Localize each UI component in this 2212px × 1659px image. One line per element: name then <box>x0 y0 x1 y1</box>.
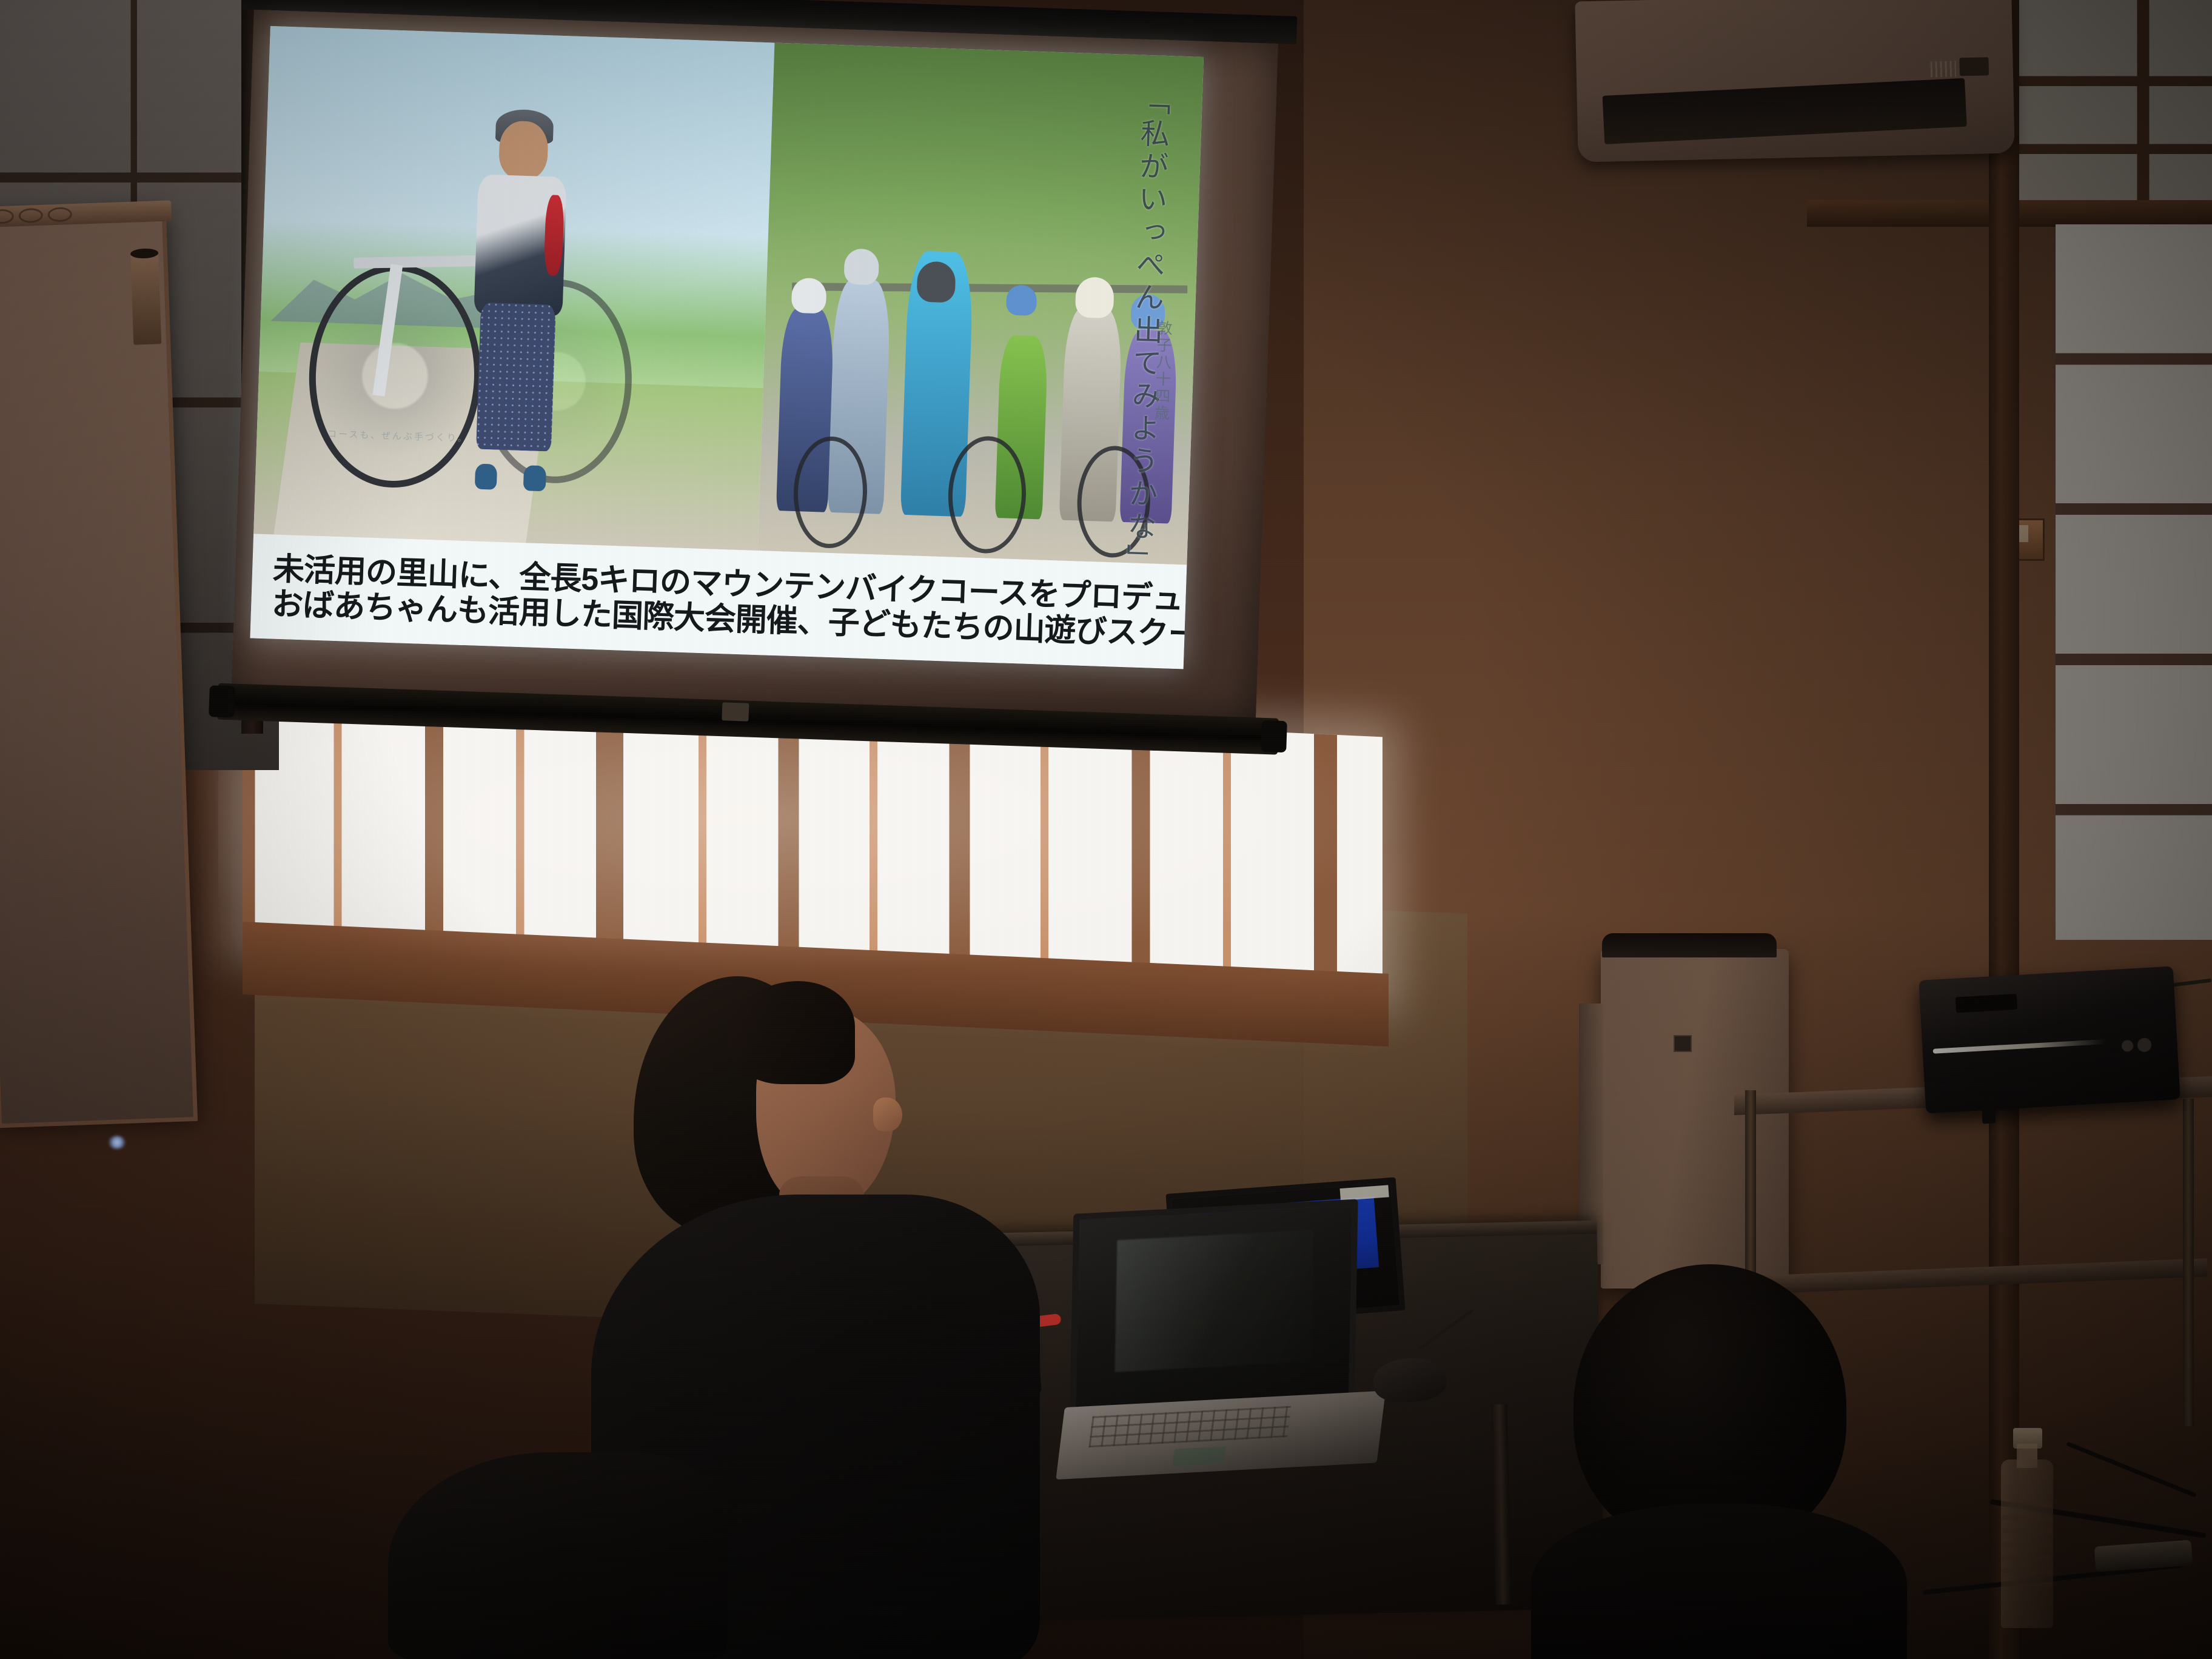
helmet-1 <box>843 249 879 286</box>
air-conditioner-vent <box>1603 78 1967 144</box>
helmet-3 <box>791 277 827 314</box>
laptop-screen <box>1070 1199 1358 1414</box>
speaker-nose <box>873 1098 902 1131</box>
slide-photo-left: コースも、ぜんぶ手づくり。 <box>253 26 774 551</box>
whiteboard-clip[interactable] <box>130 253 161 345</box>
photo-scene: コースも、ぜんぶ手づくり。 <box>0 0 2212 1659</box>
table-leg-right <box>1491 1404 1511 1604</box>
projector-focus-knobs[interactable] <box>2116 1031 2160 1059</box>
helmet-5 <box>1074 276 1114 318</box>
slide-vertical-credit: 敦子八十四歳 <box>1149 320 1175 422</box>
audience-shoulders <box>1531 1504 1907 1659</box>
shelf-leg-right <box>2183 1099 2194 1426</box>
air-conditioner <box>1575 0 2014 163</box>
laptop-trackpad[interactable] <box>1172 1446 1225 1466</box>
laptop-keyboard[interactable] <box>1088 1406 1292 1448</box>
air-purifier-top-panel <box>1602 933 1777 957</box>
bottle-label <box>2002 1496 2052 1587</box>
silver-laptop[interactable] <box>1048 1198 1383 1481</box>
air-conditioner-display <box>1960 57 1989 76</box>
black-bag <box>388 1452 728 1659</box>
screen-pull-knob[interactable] <box>722 702 749 721</box>
air-conditioner-indicator-lights <box>1931 61 1957 78</box>
shoji-sliding-door-right[interactable] <box>2056 224 2212 940</box>
projector-foot <box>1982 1105 1996 1124</box>
cyclist-shoe-right <box>523 465 546 491</box>
projected-slide: コースも、ぜんぶ手づくり。 <box>250 26 1204 669</box>
blue-led-indicator-icon <box>108 1136 126 1149</box>
cyclist-patterned-pants <box>476 303 556 451</box>
ranma-transom-panel <box>2013 0 2212 200</box>
video-projector[interactable] <box>1919 966 2180 1113</box>
projector-vent <box>1956 994 2017 1013</box>
cyclist-head <box>498 120 549 180</box>
plastic-water-bottle[interactable] <box>2001 1428 2053 1628</box>
audience-person <box>1549 1264 1889 1659</box>
projector-lens-highlight <box>1932 1039 2106 1054</box>
whiteboard <box>0 212 198 1128</box>
air-purifier-brand-badge <box>1674 1035 1692 1052</box>
projection-screen: コースも、ぜんぶ手づくり。 <box>230 0 1279 767</box>
slide-photo-row: コースも、ぜんぶ手づくり。 <box>253 26 1204 565</box>
helmet-2 <box>916 261 956 303</box>
cyclist-shoe-left <box>475 463 498 489</box>
laptop-screen-content <box>1115 1230 1313 1372</box>
elderly-cyclist-figure <box>457 119 580 488</box>
